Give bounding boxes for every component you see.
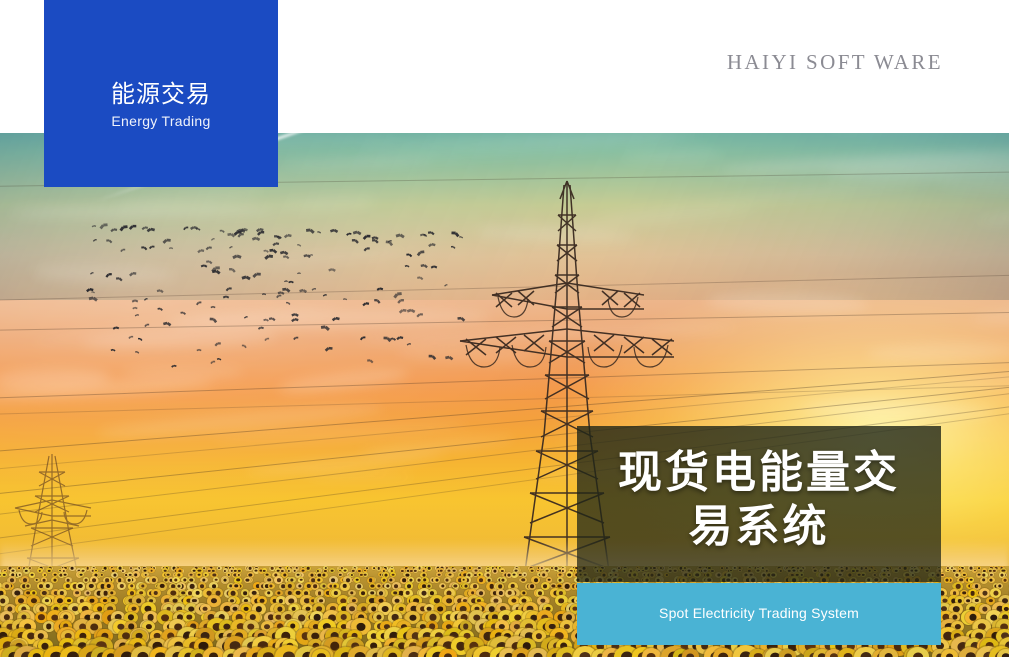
hero-title-cn: 现货电能量交 易系统 xyxy=(577,446,941,554)
hero-subtitle-en: Spot Electricity Trading System xyxy=(577,605,941,621)
hero-title-cn-line2: 易系统 xyxy=(577,500,941,554)
hero-subtitle-band: Spot Electricity Trading System xyxy=(577,583,941,645)
hero-title-card: 现货电能量交 易系统 xyxy=(577,426,941,582)
category-badge-title-cn: 能源交易 xyxy=(44,74,278,109)
bird-flock xyxy=(85,225,465,370)
category-badge-title-en: Energy Trading xyxy=(44,113,278,129)
hero-title-cn-line1: 现货电能量交 xyxy=(577,446,941,500)
brand-wordmark: HAIYI SOFT WARE xyxy=(727,50,943,75)
poster-cover: HAIYI SOFT WARE 能源交易 Energy Trading 现货电能… xyxy=(0,0,1009,657)
category-badge: 能源交易 Energy Trading xyxy=(44,0,278,187)
